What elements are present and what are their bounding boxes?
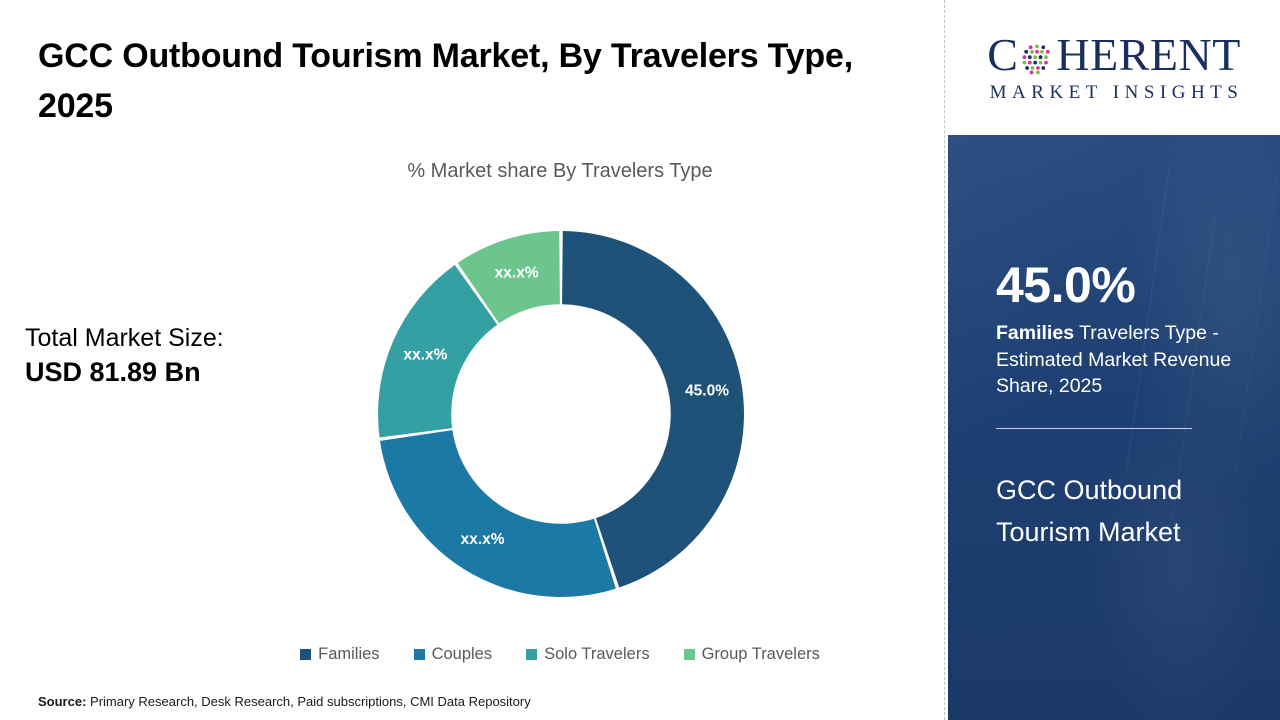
legend-item-group-travelers[interactable]: Group Travelers xyxy=(684,645,820,664)
legend-item-label: Families xyxy=(318,645,379,664)
legend-item-label: Solo Travelers xyxy=(544,645,649,664)
total-market-size-label: Total Market Size: xyxy=(25,322,325,355)
highlight-stat-description: Families Travelers Type - Estimated Mark… xyxy=(996,320,1244,400)
legend-item-families[interactable]: Families xyxy=(300,645,379,664)
highlight-stat-segment-name: Families xyxy=(996,322,1074,344)
logo-letter-c: C xyxy=(987,32,1018,78)
brand-logo[interactable]: C xyxy=(948,0,1280,135)
source-label: Source: xyxy=(38,694,86,709)
sidebar-body: 45.0% Families Travelers Type - Estimate… xyxy=(948,135,1280,720)
logo-letters-herent: HERENT xyxy=(1056,32,1240,78)
legend-swatch-icon xyxy=(526,649,537,660)
chart-legend: FamiliesCouplesSolo TravelersGroup Trave… xyxy=(180,645,940,664)
source-note: Source: Primary Research, Desk Research,… xyxy=(38,694,531,709)
legend-item-label: Couples xyxy=(432,645,493,664)
donut-slice-label-group-travelers: xx.x% xyxy=(495,264,539,281)
sidebar-content: 45.0% Families Travelers Type - Estimate… xyxy=(948,260,1280,553)
legend-item-label: Group Travelers xyxy=(702,645,820,664)
left-panel: GCC Outbound Tourism Market, By Traveler… xyxy=(0,0,944,720)
infographic-page: GCC Outbound Tourism Market, By Traveler… xyxy=(0,0,1280,720)
highlight-stat-value: 45.0% xyxy=(996,260,1280,311)
source-text: Primary Research, Desk Research, Paid su… xyxy=(86,694,530,709)
dotted-globe-icon xyxy=(1019,39,1055,75)
donut-slice-label-solo-travelers: xx.x% xyxy=(404,346,448,363)
donut-slice-couples[interactable] xyxy=(380,430,616,597)
panel-divider xyxy=(944,0,945,720)
legend-item-couples[interactable]: Couples xyxy=(414,645,493,664)
sidebar-market-name: GCC Outbound Tourism Market xyxy=(996,469,1246,553)
donut-slice-label-couples: xx.x% xyxy=(461,531,505,548)
total-market-size-block: Total Market Size: USD 81.89 Bn xyxy=(25,322,325,391)
donut-chart-svg: 45.0%xx.x%xx.x%xx.x% xyxy=(375,228,747,600)
sidebar-divider-rule xyxy=(996,428,1192,429)
total-market-size-value: USD 81.89 Bn xyxy=(25,355,325,391)
legend-swatch-icon xyxy=(300,649,311,660)
page-title: GCC Outbound Tourism Market, By Traveler… xyxy=(38,32,868,131)
legend-swatch-icon xyxy=(684,649,695,660)
sidebar: C xyxy=(948,0,1280,720)
chart-subtitle: % Market share By Travelers Type xyxy=(180,160,940,183)
legend-swatch-icon xyxy=(414,649,425,660)
logo-wordmark: C xyxy=(987,32,1241,78)
donut-slice-label-families: 45.0% xyxy=(685,382,729,399)
legend-item-solo-travelers[interactable]: Solo Travelers xyxy=(526,645,649,664)
donut-chart: 45.0%xx.x%xx.x%xx.x% xyxy=(375,228,747,600)
logo-subtitle: MARKET INSIGHTS xyxy=(985,82,1244,104)
